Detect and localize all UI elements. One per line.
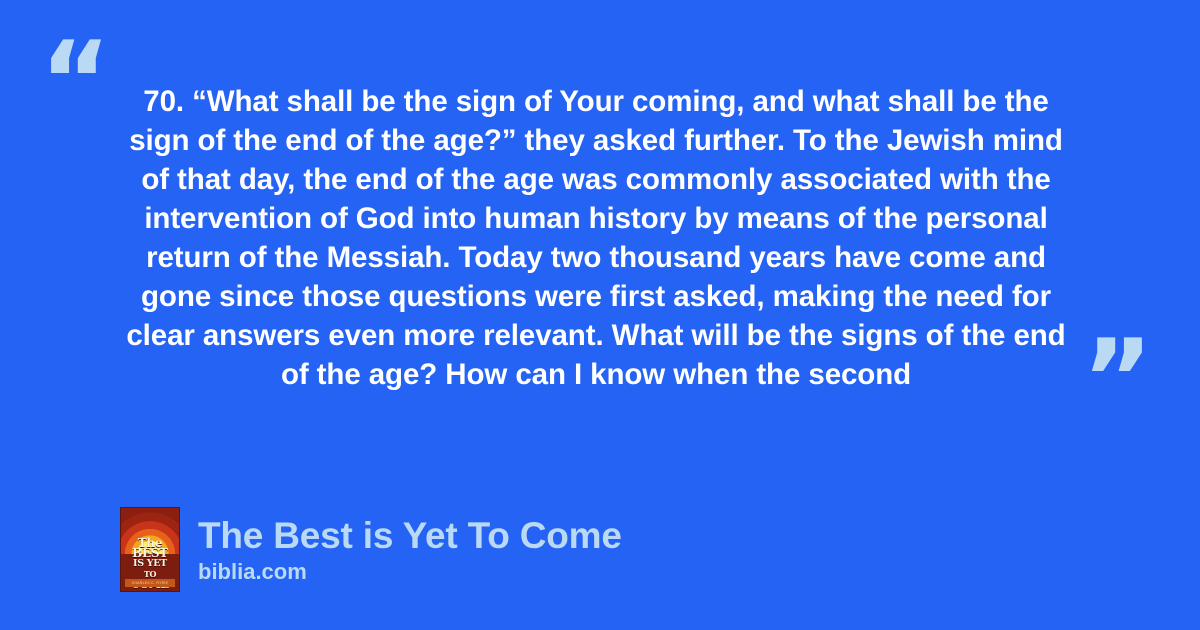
attribution-footer: The BEST IS YET TO COME CHARLES C. RYRIE…: [120, 507, 622, 592]
quote-card: “ 70. “What shall be the sign of Your co…: [0, 0, 1200, 630]
book-cover-title-line-3: IS YET: [121, 559, 179, 570]
book-cover-thumbnail: The BEST IS YET TO COME CHARLES C. RYRIE: [120, 507, 180, 592]
closing-quote-icon: ”: [1082, 326, 1153, 434]
book-title: The Best is Yet To Come: [198, 515, 622, 557]
book-cover-author: CHARLES C. RYRIE: [125, 579, 175, 587]
opening-quote-icon: “: [40, 28, 111, 136]
quote-text: 70. “What shall be the sign of Your comi…: [112, 82, 1080, 394]
site-name: biblia.com: [198, 559, 622, 585]
footer-text-block: The Best is Yet To Come biblia.com: [198, 515, 622, 585]
